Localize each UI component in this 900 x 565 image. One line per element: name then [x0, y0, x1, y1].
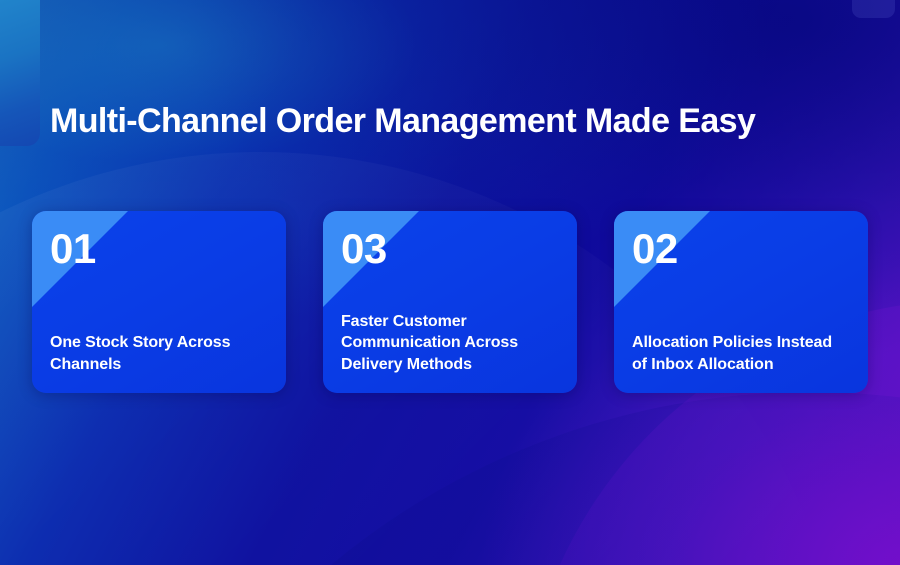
feature-card-02[interactable]: 02 Allocation Policies Instead of Inbox … [614, 211, 868, 393]
feature-card-03[interactable]: 03 Faster Customer Communication Across … [323, 211, 577, 393]
card-number: 02 [632, 226, 850, 272]
slide-title: Multi-Channel Order Management Made Easy [50, 99, 862, 143]
feature-card-01[interactable]: 01 One Stock Story Across Channels [32, 211, 286, 393]
card-title: Faster Customer Communication Across Del… [341, 311, 559, 376]
decorative-top-right-chip [852, 0, 895, 18]
card-spacer [50, 272, 268, 332]
card-title: One Stock Story Across Channels [50, 332, 268, 375]
card-number: 01 [50, 226, 268, 272]
card-spacer [632, 272, 850, 332]
card-title: Allocation Policies Instead of Inbox All… [632, 332, 850, 375]
card-spacer [341, 272, 559, 311]
card-number: 03 [341, 226, 559, 272]
presentation-slide: Multi-Channel Order Management Made Easy… [0, 0, 900, 565]
decorative-left-bar [0, 0, 40, 146]
feature-card-list: 01 One Stock Story Across Channels 03 Fa… [32, 211, 868, 393]
